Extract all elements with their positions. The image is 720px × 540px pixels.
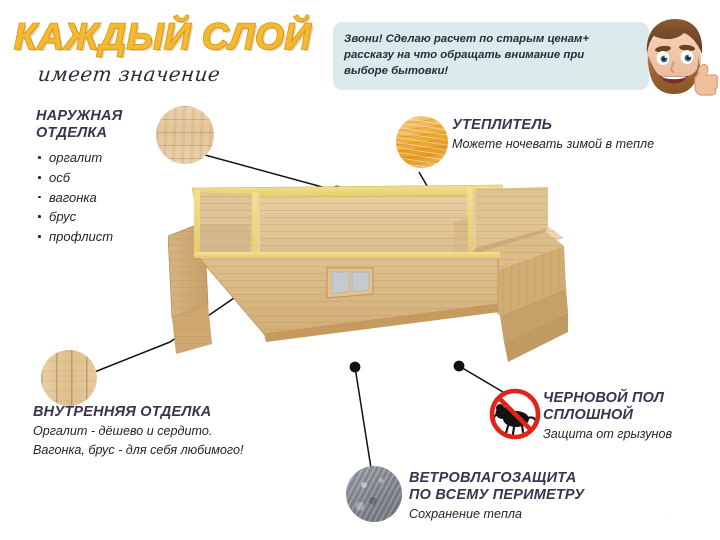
list-item: брус [36,207,186,227]
cabin-front-wall [196,254,500,342]
avito-logo-dot-3 [639,503,645,509]
list-item: профлист [36,227,186,247]
no-rodents-icon [489,388,541,440]
callout-inner-finish-subtitle-2: Вагонка, брус - для себя любимого! [33,442,333,459]
callout-subfloor-title-line2: СПЛОШНОЙ [543,407,633,423]
callout-outer-finish: НАРУЖНАЯ ОТДЕЛКА оргалит осб вагонка бру… [36,108,186,247]
callout-subfloor-title-line1: ЧЕРНОВОЙ ПОЛ [543,390,664,406]
outer-finish-material-list: оргалит осб вагонка брус профлист [36,148,186,247]
callout-inner-finish: ВНУТРЕННЯЯ ОТДЕЛКА Оргалит - дёшево и се… [33,404,333,458]
avito-logo-dot-2 [628,516,635,523]
avito-logo-dot-1 [628,505,637,514]
page-subtitle: имеет значение [37,62,336,86]
callout-insulation-subtitle: Можете ночевать зимой в тепле [452,136,714,153]
cabin-bottom-trim [194,252,500,258]
avito-logo-dot-4 [638,514,648,524]
connector-inner-finish [92,342,170,373]
callout-windproof-subtitle: Сохранение тепла [409,506,639,523]
callout-outer-finish-title-line1: НАРУЖНАЯ [36,108,122,124]
callout-subfloor-subtitle: Защита от грызунов [543,426,718,443]
avito-watermark-text: Avito [650,502,697,524]
callout-inner-finish-subtitle-1: Оргалит - дёшево и сердито. [33,423,333,440]
page-title: КАЖДЫЙ СЛОЙ [14,18,334,57]
speech-line-1: Звони! Сделаю расчет по старым ценам+ [344,31,638,47]
speech-line-2: рассказу на что обращать внимание при [344,47,638,63]
speech-line-3: выборе бытовки! [344,63,638,79]
callout-subfloor-title: ЧЕРНОВОЙ ПОЛ СПЛОШНОЙ [543,390,718,424]
callout-windproof: ВЕТРОВЛАГОЗАЩИТА ПО ВСЕМУ ПЕРИМЕТРУ Сохр… [409,470,639,523]
mineral-wool-swatch [396,116,448,168]
windproof-membrane-swatch [346,466,402,522]
speech-bubble: Звони! Сделаю расчет по старым ценам+ ра… [333,22,649,90]
callout-subfloor: ЧЕРНОВОЙ ПОЛ СПЛОШНОЙ Защита от грызунов [543,390,718,443]
callout-windproof-title-line1: ВЕТРОВЛАГОЗАЩИТА [409,470,576,486]
list-item: вагонка [36,188,186,208]
callout-insulation: УТЕПЛИТЕЛЬ Можете ночевать зимой в тепле [452,117,714,153]
title-block: КАЖДЫЙ СЛОЙ имеет значение [14,18,334,86]
vertical-board-lining-swatch [41,350,97,406]
callout-outer-finish-title: НАРУЖНАЯ ОТДЕЛКА [36,108,186,142]
callout-outer-finish-title-line2: ОТДЕЛКА [36,125,107,141]
infographic-canvas: КАЖДЫЙ СЛОЙ имеет значение Звони! Сделаю… [0,0,720,540]
bearded-man-thumbs-up-avatar [640,14,718,106]
cabin-window [327,268,373,298]
callout-insulation-title: УТЕПЛИТЕЛЬ [452,117,714,134]
list-item: осб [36,168,186,188]
callout-inner-finish-title: ВНУТРЕННЯЯ ОТДЕЛКА [33,404,333,421]
avito-watermark: Avito [628,503,710,529]
callout-windproof-title: ВЕТРОВЛАГОЗАЩИТА ПО ВСЕМУ ПЕРИМЕТРУ [409,470,639,504]
wooden-cabin-cutaway-illustration [168,176,568,391]
callout-windproof-title-line2: ПО ВСЕМУ ПЕРИМЕТРУ [409,487,584,503]
thumbs-up-icon [695,64,718,95]
list-item: оргалит [36,148,186,168]
